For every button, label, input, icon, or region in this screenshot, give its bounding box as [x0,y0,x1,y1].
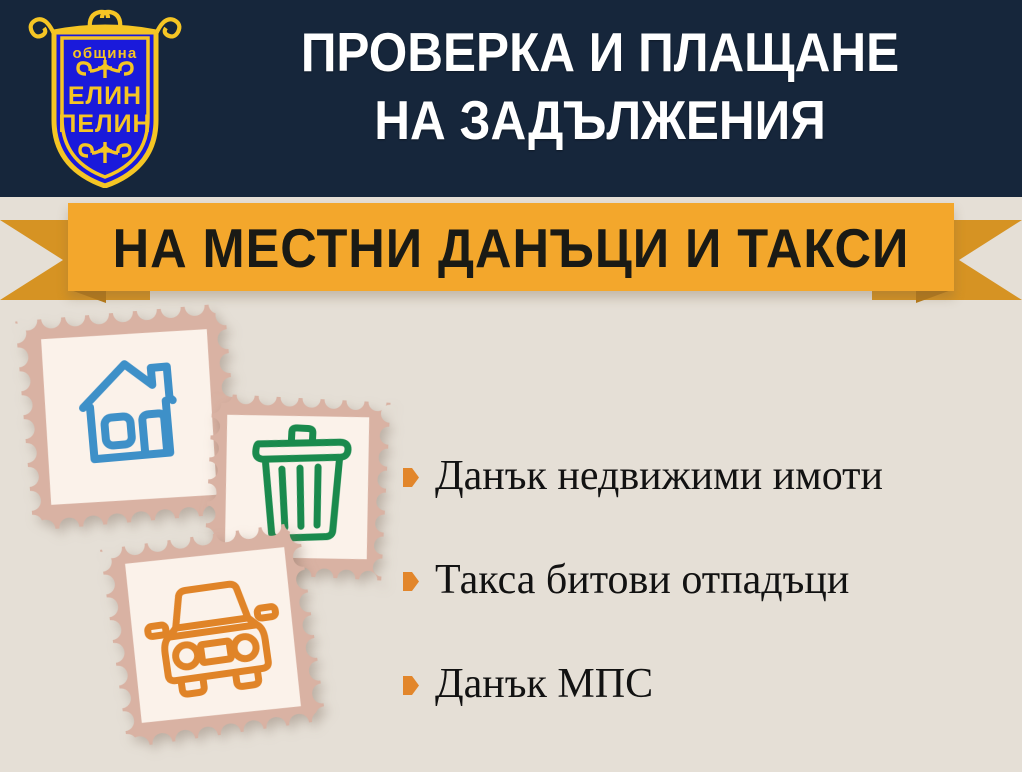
pentagon-bullet-icon [403,676,419,695]
list-item-label: Такса битови отпадъци [435,557,849,603]
logo-obshtina-text: община [73,45,138,62]
list-item[interactable]: Данък МПС [403,632,1018,736]
ribbon-body: НА МЕСТНИ ДАНЪЦИ И ТАКСИ [68,203,954,291]
ribbon-label: НА МЕСТНИ ДАНЪЦИ И ТАКСИ [113,221,910,276]
coat-of-arms-icon: община ЕЛИН ПЕЛИН [28,8,183,188]
page-title-line-2: НА ЗАДЪЛЖЕНИЯ [227,86,974,154]
list-item[interactable]: Данък недвижими имоти [403,424,1018,528]
page-title-line-1: ПРОВЕРКА И ПЛАЩАНЕ [227,18,974,86]
car-stamp-graphic [100,522,326,748]
page-title: ПРОВЕРКА И ПЛАЩАНЕ НА ЗАДЪЛЖЕНИЯ [227,18,974,154]
car-stamp [100,522,326,748]
list-item-label: Данък МПС [435,661,653,707]
poster-root: община ЕЛИН ПЕЛИН [0,0,1022,772]
pentagon-bullet-icon [403,572,419,591]
pentagon-bullet-icon [403,468,419,487]
logo-name-line-1: ЕЛИН [68,82,142,110]
subtitle-ribbon: НА МЕСТНИ ДАНЪЦИ И ТАКСИ [0,203,1022,308]
list-item[interactable]: Такса битови отпадъци [403,528,1018,632]
logo-name-line-2: ПЕЛИН [58,110,151,138]
tax-type-list: Данък недвижими имоти Такса битови отпад… [403,424,1018,736]
header-banner: община ЕЛИН ПЕЛИН [0,0,1022,197]
list-item-label: Данък недвижими имоти [435,453,883,499]
municipality-logo: община ЕЛИН ПЕЛИН [28,8,183,188]
